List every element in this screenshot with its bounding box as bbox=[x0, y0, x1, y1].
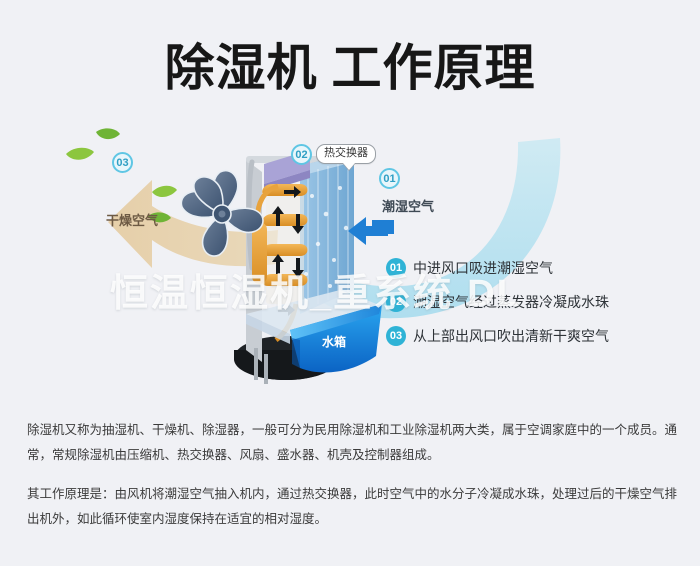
list-item: 03 从上部出风口吹出清新干爽空气 bbox=[386, 319, 686, 353]
body-paragraph-2: 其工作原理是：由风机将潮湿空气抽入机内，通过热交换器，此时空气中的水分子冷凝成水… bbox=[27, 482, 677, 532]
step-text-02: 潮湿空气经过蒸发器冷凝成水珠 bbox=[413, 292, 609, 312]
list-item: 02 潮湿空气经过蒸发器冷凝成水珠 bbox=[386, 285, 686, 319]
page-title-part1: 除湿机 bbox=[165, 28, 318, 100]
step-text-01: 中进风口吸进潮湿空气 bbox=[413, 258, 553, 278]
diagram-badge-01: 01 bbox=[379, 168, 400, 189]
leaf-icon bbox=[66, 128, 177, 222]
body-copy: 除湿机又称为抽湿机、干燥机、除湿器，一般可分为民用除湿机和工业除湿机两大类，属于… bbox=[27, 418, 677, 532]
step-badge-03: 03 bbox=[386, 326, 406, 346]
step-badge-01: 01 bbox=[386, 258, 406, 278]
step-text-03: 从上部出风口吹出清新干爽空气 bbox=[413, 326, 609, 346]
heat-exchanger-callout: 热交换器 bbox=[316, 144, 376, 164]
diagram-badge-02: 02 bbox=[291, 144, 312, 165]
body-paragraph-1: 除湿机又称为抽湿机、干燥机、除湿器，一般可分为民用除湿机和工业除湿机两大类，属于… bbox=[27, 418, 677, 468]
water-tank-label: 水箱 bbox=[322, 333, 346, 350]
step-list: 01 中进风口吸进潮湿空气 02 潮湿空气经过蒸发器冷凝成水珠 03 从上部出风… bbox=[386, 251, 686, 353]
page-title: 除湿机工作原理 bbox=[0, 28, 700, 100]
fan-icon bbox=[168, 160, 276, 268]
infographic-page: 除湿机工作原理 bbox=[0, 0, 700, 566]
step-badge-02: 02 bbox=[386, 292, 406, 312]
heat-exchanger-label: 热交换器 bbox=[324, 147, 368, 159]
humid-air-label: 潮湿空气 bbox=[382, 196, 434, 215]
dry-air-label: 干燥空气 bbox=[106, 210, 158, 229]
list-item: 01 中进风口吸进潮湿空气 bbox=[386, 251, 686, 285]
page-title-part2: 工作原理 bbox=[332, 28, 536, 100]
diagram-badge-03: 03 bbox=[112, 152, 133, 173]
